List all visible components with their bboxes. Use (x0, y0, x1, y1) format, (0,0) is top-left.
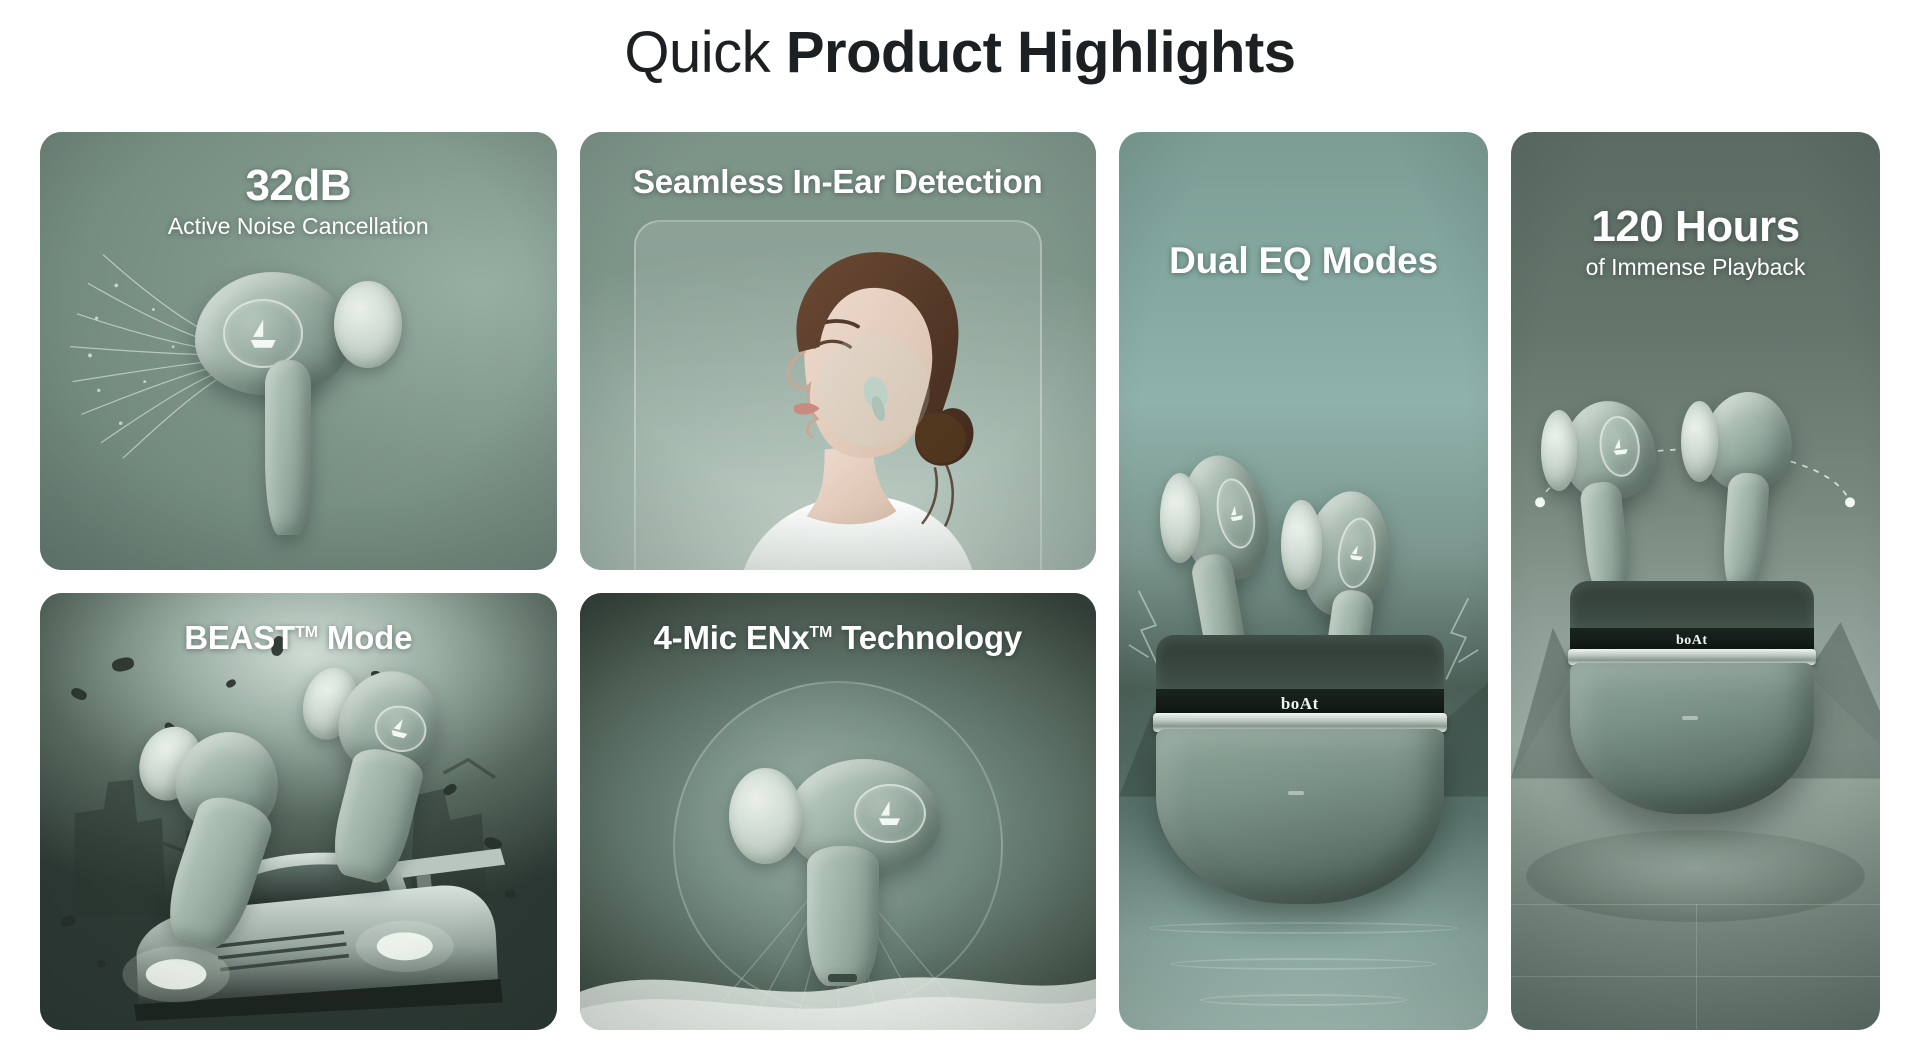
water-ripple (1200, 994, 1407, 1006)
card-headline: 120 Hours (1525, 204, 1866, 250)
earbud-ear-tip (334, 281, 401, 369)
case-led-indicator (1288, 791, 1304, 795)
case-led-indicator (1682, 716, 1698, 720)
earbud-anc-stem (247, 360, 330, 535)
page-title-light: Quick (624, 20, 770, 85)
highlight-card-playback[interactable]: boAt 120 Hours of Immense Playback (1511, 132, 1880, 1030)
card-row-bottom: BEASTTM Mode (40, 593, 1096, 1031)
boat-logo-icon (854, 784, 925, 843)
card-headline-main: BEAST (184, 619, 295, 656)
card-caption-dual-eq-modes: Dual EQ Modes (1119, 240, 1488, 282)
earbud-hours-left-tip (1541, 410, 1578, 491)
card-row-top: 32dB Active Noise Cancellation (40, 132, 1096, 570)
highlight-card-anc[interactable]: 32dB Active Noise Cancellation (40, 132, 557, 570)
earbud-stem (1721, 472, 1770, 591)
card-headline: Dual EQ Modes (1133, 240, 1474, 282)
page-title-bold: Product Highlights (786, 20, 1296, 85)
boat-sailboat-glyph (1344, 533, 1368, 574)
card-subline: of Immense Playback (1525, 253, 1866, 282)
case-wordmark: boAt (1676, 633, 1708, 649)
card-headline-suffix: Mode (327, 619, 412, 656)
card-caption-in-ear-detection: Seamless In-Ear Detection (580, 163, 1097, 201)
highlight-card-in-ear-detection[interactable]: Seamless In-Ear Detection (580, 132, 1097, 570)
highlight-card-dual-eq-modes[interactable]: boAt Dual EQ Modes (1119, 132, 1488, 1030)
boat-logo-icon (223, 299, 304, 368)
highlight-card-beast-mode[interactable]: BEASTTM Mode (40, 593, 557, 1031)
earbud-ear-tip (729, 768, 801, 864)
card-subline: Active Noise Cancellation (54, 212, 543, 241)
right-card-group: boAt Dual EQ Modes (1119, 132, 1880, 1030)
earbud-ear-tip (1681, 401, 1718, 482)
floor-seam (1696, 904, 1697, 1030)
earbud-eq-left-tip (1160, 473, 1201, 563)
earbud-stem (265, 360, 311, 535)
trademark-mark: TM (295, 624, 318, 641)
earbud-ear-tip (1541, 410, 1578, 491)
card-caption-enx-technology: 4-Mic ENxTM Technology (580, 619, 1097, 657)
card-headline: 32dB (54, 163, 543, 209)
earbud-ear-tip (1281, 500, 1322, 590)
card-headline-main: 4-Mic ENx (654, 619, 810, 656)
case-base (1570, 663, 1814, 815)
card-caption-anc: 32dB Active Noise Cancellation (40, 163, 557, 241)
card-headline-suffix: Technology (841, 619, 1022, 656)
case-wordmark: boAt (1281, 694, 1319, 714)
boat-sailboat-glyph (384, 713, 417, 743)
left-card-group: 32dB Active Noise Cancellation (40, 132, 1096, 1030)
card-caption-beast-mode: BEASTTM Mode (40, 619, 557, 657)
card-headline: BEASTTM Mode (54, 619, 543, 657)
earbud-hours-right-tip (1681, 401, 1718, 482)
woman-profile-illustration (703, 224, 1013, 570)
earbud-enx-tip (729, 768, 801, 864)
charging-case-hours: boAt (1570, 581, 1814, 814)
page-title: Quick Product Highlights (0, 0, 1920, 87)
earbud-anc-tip (334, 281, 401, 369)
case-base (1156, 729, 1444, 904)
earbud-hours-right-stem (1721, 472, 1770, 591)
earbud-eq-right-tip (1281, 500, 1322, 590)
boat-sailboat-glyph (1607, 429, 1632, 464)
wave-base-decoration (580, 934, 1097, 1030)
charging-case-eq: boAt (1156, 635, 1444, 904)
card-caption-playback: 120 Hours of Immense Playback (1511, 204, 1880, 282)
boat-sailboat-glyph (241, 315, 285, 352)
card-headline: 4-Mic ENxTM Technology (594, 619, 1083, 657)
boat-sailboat-glyph (870, 797, 909, 829)
card-headline: Seamless In-Ear Detection (594, 163, 1083, 201)
highlights-board: 32dB Active Noise Cancellation (40, 132, 1880, 1030)
boat-sailboat-glyph (1223, 493, 1249, 534)
earbud-ear-tip (1160, 473, 1201, 563)
highlight-card-enx-technology[interactable]: 4-Mic ENxTM Technology (580, 593, 1097, 1031)
trademark-mark: TM (809, 624, 832, 641)
